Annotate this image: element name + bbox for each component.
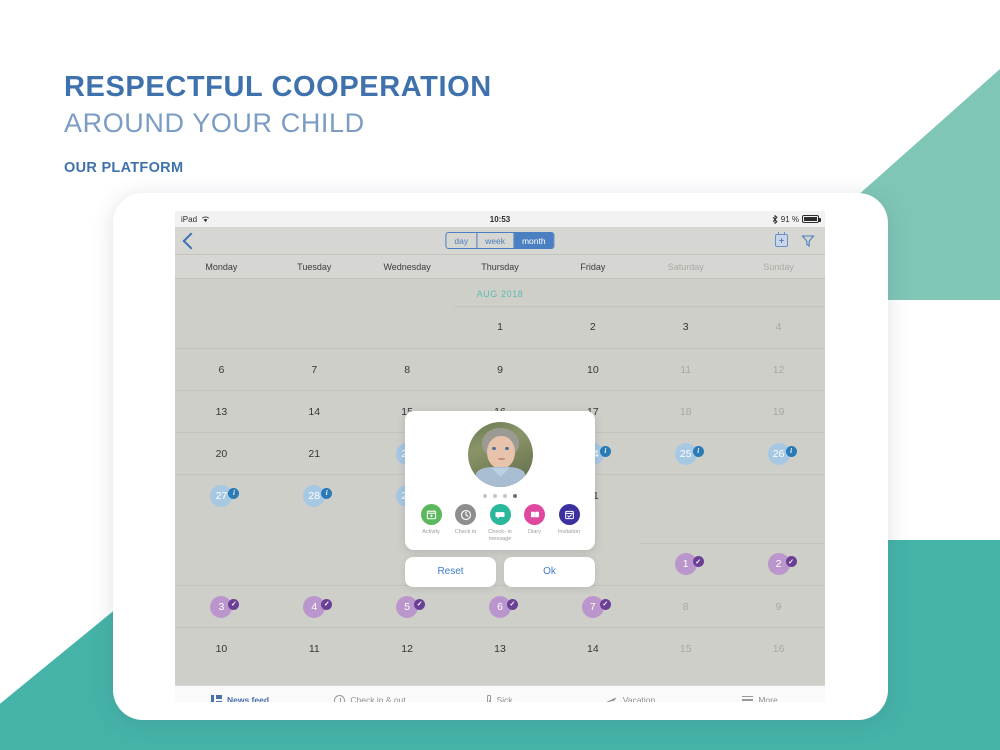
- calendar-day-cell[interactable]: 28i: [268, 475, 361, 516]
- calendar-day-cell[interactable]: 11: [639, 349, 732, 390]
- calendar-week-row: 10111213141516: [175, 627, 825, 669]
- calendar-body: AUG 2018 1234678910111213141516171819202…: [175, 279, 825, 685]
- weekday-tuesday: Tuesday: [268, 262, 361, 272]
- check-badge-icon[interactable]: ✓: [693, 556, 704, 567]
- calendar-day-cell: [732, 475, 825, 516]
- tab-label: News feed: [227, 695, 269, 702]
- thermometer-icon: [487, 695, 491, 703]
- tab-label: Vacation: [623, 695, 655, 702]
- check-badge-icon[interactable]: ✓: [600, 599, 611, 610]
- day-number: 16: [773, 643, 785, 655]
- day-number: 8: [683, 601, 689, 613]
- day-number: 14: [587, 643, 599, 655]
- bluetooth-icon: [772, 215, 778, 224]
- info-badge-icon[interactable]: i: [693, 446, 704, 457]
- day-number: 2: [590, 321, 596, 333]
- calendar-day-cell[interactable]: 9: [454, 349, 547, 390]
- tab-sick[interactable]: Sick: [435, 695, 565, 703]
- day-pill[interactable]: 25i: [675, 443, 697, 465]
- back-chevron-icon[interactable]: [183, 232, 200, 249]
- month-label-aug: AUG 2018: [175, 279, 825, 306]
- avatar-pagination-dots[interactable]: [411, 494, 589, 498]
- clock-icon[interactable]: [455, 504, 476, 525]
- news-feed-icon: [211, 695, 222, 702]
- check-badge-icon[interactable]: ✓: [414, 599, 425, 610]
- day-number: 4: [776, 321, 782, 333]
- calendar-day-cell: [639, 475, 732, 516]
- modal-action-list: ActivityCheck inCheck- in messageDiaryIn…: [411, 504, 589, 543]
- weekday-thursday: Thursday: [454, 262, 547, 272]
- day-number: 13: [494, 643, 506, 655]
- child-action-modal: ActivityCheck inCheck- in messageDiaryIn…: [405, 411, 595, 587]
- hamburger-icon: [742, 696, 753, 703]
- tab-label: Check in & out: [350, 695, 405, 702]
- calendar-day-cell[interactable]: 6: [175, 349, 268, 390]
- check-badge-icon[interactable]: ✓: [321, 599, 332, 610]
- day-pill[interactable]: 5✓: [396, 596, 418, 618]
- modal-action-diary[interactable]: Diary: [518, 504, 552, 543]
- pagination-dot[interactable]: [513, 494, 517, 498]
- info-badge-icon[interactable]: i: [786, 446, 797, 457]
- day-number: 4: [311, 601, 317, 613]
- day-number: 20: [216, 448, 228, 460]
- day-pill[interactable]: 28i: [303, 485, 325, 507]
- invitation-check-icon[interactable]: [559, 504, 580, 525]
- modal-action-activity[interactable]: Activity: [414, 504, 448, 543]
- weekday-wednesday: Wednesday: [361, 262, 454, 272]
- calendar-day-cell[interactable]: 7✓: [546, 586, 639, 627]
- day-number: 11: [680, 364, 691, 376]
- calendar-day-cell[interactable]: 14: [268, 391, 361, 432]
- calendar-day-cell[interactable]: 12: [732, 349, 825, 390]
- tab-label: Sick: [496, 695, 512, 702]
- check-badge-icon[interactable]: ✓: [228, 599, 239, 610]
- day-number: 26: [773, 448, 785, 460]
- day-number: 28: [308, 490, 320, 502]
- navbar-right-actions: [775, 234, 815, 248]
- modal-action-check[interactable]: Check- in message: [483, 504, 517, 543]
- calendar-day-cell[interactable]: 9: [732, 586, 825, 627]
- calendar-day-cell[interactable]: 8: [361, 349, 454, 390]
- day-number: 1: [683, 558, 689, 570]
- day-number: 7: [590, 601, 596, 613]
- day-number: 2: [776, 558, 782, 570]
- day-pill[interactable]: 2✓: [768, 553, 790, 575]
- calendar-day-cell[interactable]: 8: [639, 586, 732, 627]
- page-root: RESPECTFUL COOPERATION AROUND YOUR CHILD…: [0, 0, 1000, 750]
- day-number: 12: [401, 643, 413, 655]
- page-title: RESPECTFUL COOPERATION: [64, 70, 492, 105]
- battery-percent: 91 %: [781, 215, 799, 224]
- ios-status-bar: iPad 10:53 91 %: [175, 211, 825, 227]
- day-number: 5: [404, 601, 410, 613]
- calendar-day-cell: [361, 306, 454, 348]
- pagination-dot[interactable]: [493, 494, 497, 498]
- info-badge-icon[interactable]: i: [321, 488, 332, 499]
- day-number: 1: [497, 321, 503, 333]
- calendar-day-cell[interactable]: 2: [546, 306, 639, 348]
- calendar-day-cell[interactable]: 10: [546, 349, 639, 390]
- pagination-dot[interactable]: [503, 494, 507, 498]
- page-kicker: OUR PLATFORM: [64, 160, 492, 176]
- status-right: 91 %: [772, 215, 819, 224]
- book-icon[interactable]: [524, 504, 545, 525]
- day-pill[interactable]: 7✓: [582, 596, 604, 618]
- calendar-day-cell[interactable]: 11: [268, 628, 361, 669]
- calendar-day-cell[interactable]: 20: [175, 433, 268, 474]
- calendar-day-cell[interactable]: 7: [268, 349, 361, 390]
- calendar-day-cell[interactable]: 19: [732, 391, 825, 432]
- calendar-day-cell[interactable]: 15: [639, 628, 732, 669]
- modal-buttons: Reset Ok: [405, 557, 595, 587]
- info-badge-icon[interactable]: i: [228, 488, 239, 499]
- day-number: 3: [219, 601, 225, 613]
- modal-action-label: Check in: [455, 529, 477, 536]
- tab-news-feed[interactable]: News feed: [175, 695, 305, 702]
- check-badge-icon[interactable]: ✓: [507, 599, 518, 610]
- calendar-day-cell[interactable]: 10: [175, 628, 268, 669]
- calendar-day-cell[interactable]: 27i: [175, 475, 268, 516]
- weekday-header: MondayTuesdayWednesdayThursdayFridaySatu…: [175, 255, 825, 279]
- filter-funnel-icon[interactable]: [801, 234, 815, 248]
- day-number: 8: [404, 364, 410, 376]
- segment-day[interactable]: day: [446, 233, 477, 248]
- calendar-week-row: 6789101112: [175, 348, 825, 390]
- calendar-week-row: 1234: [175, 306, 825, 348]
- weekday-friday: Friday: [546, 262, 639, 272]
- day-number: 3: [683, 321, 689, 333]
- calendar-day-cell[interactable]: 26i: [732, 433, 825, 474]
- calendar-day-cell[interactable]: 14: [546, 628, 639, 669]
- calendar-day-cell[interactable]: 4✓: [268, 586, 361, 627]
- modal-action-label: Activity: [422, 529, 440, 536]
- headings-block: RESPECTFUL COOPERATION AROUND YOUR CHILD…: [64, 70, 492, 176]
- day-pill[interactable]: 1✓: [675, 553, 697, 575]
- reset-button[interactable]: Reset: [405, 557, 496, 587]
- status-time: 10:53: [175, 215, 825, 224]
- tab-vacation[interactable]: Vacation: [565, 695, 695, 703]
- day-number: 6: [497, 601, 503, 613]
- tab-label: More: [758, 695, 777, 702]
- modal-action-label: Check- in message: [483, 529, 517, 543]
- day-number: 13: [216, 406, 228, 418]
- weekday-sunday: Sunday: [732, 262, 825, 272]
- day-number: 9: [497, 364, 503, 376]
- ok-button[interactable]: Ok: [504, 557, 595, 587]
- calendar-day-cell[interactable]: 25i: [639, 433, 732, 474]
- check-badge-icon[interactable]: ✓: [786, 556, 797, 567]
- calendar-day-cell: [175, 306, 268, 348]
- calendar-day-cell[interactable]: 4: [732, 306, 825, 348]
- clock-icon: [334, 695, 345, 703]
- tablet-device: iPad 10:53 91 %: [113, 193, 888, 720]
- pagination-dot[interactable]: [483, 494, 487, 498]
- day-number: 25: [680, 448, 692, 460]
- day-pill[interactable]: 3✓: [210, 596, 232, 618]
- calendar-day-cell[interactable]: 3: [639, 306, 732, 348]
- day-number: 18: [680, 406, 692, 418]
- calendar-add-icon[interactable]: [775, 234, 788, 247]
- day-number: 19: [773, 406, 785, 418]
- day-number: 11: [309, 643, 320, 655]
- day-number: 9: [776, 601, 782, 613]
- modal-action-invitation[interactable]: Invitation: [552, 504, 586, 543]
- battery-icon: [802, 215, 819, 223]
- day-number: 27: [216, 490, 228, 502]
- day-number: 6: [219, 364, 225, 376]
- day-number: 14: [308, 406, 320, 418]
- airplane-icon: [605, 695, 618, 703]
- app-navbar: day week month: [175, 227, 825, 255]
- calendar-day-cell[interactable]: 6✓: [454, 586, 547, 627]
- calendar-day-cell[interactable]: 18: [639, 391, 732, 432]
- view-mode-segmented-control[interactable]: day week month: [445, 232, 554, 249]
- calendar-day-cell[interactable]: 1: [454, 306, 547, 348]
- calendar-day-cell[interactable]: 5✓: [361, 586, 454, 627]
- tab-check-in-out[interactable]: Check in & out: [305, 695, 435, 703]
- bottom-tab-bar: News feedCheck in & outSickVacationMore: [175, 685, 825, 702]
- modal-action-check[interactable]: Check in: [449, 504, 483, 543]
- calendar-day-cell[interactable]: 16: [732, 628, 825, 669]
- calendar-day-cell[interactable]: 21: [268, 433, 361, 474]
- calendar-day-cell[interactable]: 1✓: [639, 543, 732, 585]
- day-number: 21: [308, 448, 320, 460]
- modal-action-label: Invitation: [558, 529, 580, 536]
- calendar-week-row: 3✓4✓5✓6✓7✓89: [175, 585, 825, 627]
- calendar-day-cell[interactable]: 12: [361, 628, 454, 669]
- info-badge-icon[interactable]: i: [600, 446, 611, 457]
- day-number: 15: [680, 643, 692, 655]
- day-number: 12: [773, 364, 785, 376]
- calendar-day-cell[interactable]: 2✓: [732, 543, 825, 585]
- calendar-day-cell: [175, 543, 268, 585]
- calendar-day-cell: [268, 543, 361, 585]
- chat-bubble-icon[interactable]: [490, 504, 511, 525]
- tab-more[interactable]: More: [695, 695, 825, 702]
- day-number: 10: [587, 364, 599, 376]
- segment-month[interactable]: month: [514, 233, 554, 248]
- calendar-day-cell: [268, 306, 361, 348]
- modal-card: ActivityCheck inCheck- in messageDiaryIn…: [405, 411, 595, 550]
- activity-calendar-icon[interactable]: [421, 504, 442, 525]
- segment-week[interactable]: week: [477, 233, 514, 248]
- day-number: 10: [216, 643, 228, 655]
- modal-action-label: Diary: [528, 529, 541, 536]
- calendar-day-cell[interactable]: 13: [454, 628, 547, 669]
- child-avatar[interactable]: [468, 422, 533, 487]
- day-pill[interactable]: 26i: [768, 443, 790, 465]
- calendar-day-cell[interactable]: 3✓: [175, 586, 268, 627]
- tablet-screen: iPad 10:53 91 %: [175, 211, 825, 702]
- calendar-day-cell[interactable]: 13: [175, 391, 268, 432]
- page-subtitle: AROUND YOUR CHILD: [64, 107, 492, 141]
- day-pill[interactable]: 27i: [210, 485, 232, 507]
- day-pill[interactable]: 6✓: [489, 596, 511, 618]
- weekday-saturday: Saturday: [639, 262, 732, 272]
- day-pill[interactable]: 4✓: [303, 596, 325, 618]
- day-number: 7: [311, 364, 317, 376]
- weekday-monday: Monday: [175, 262, 268, 272]
